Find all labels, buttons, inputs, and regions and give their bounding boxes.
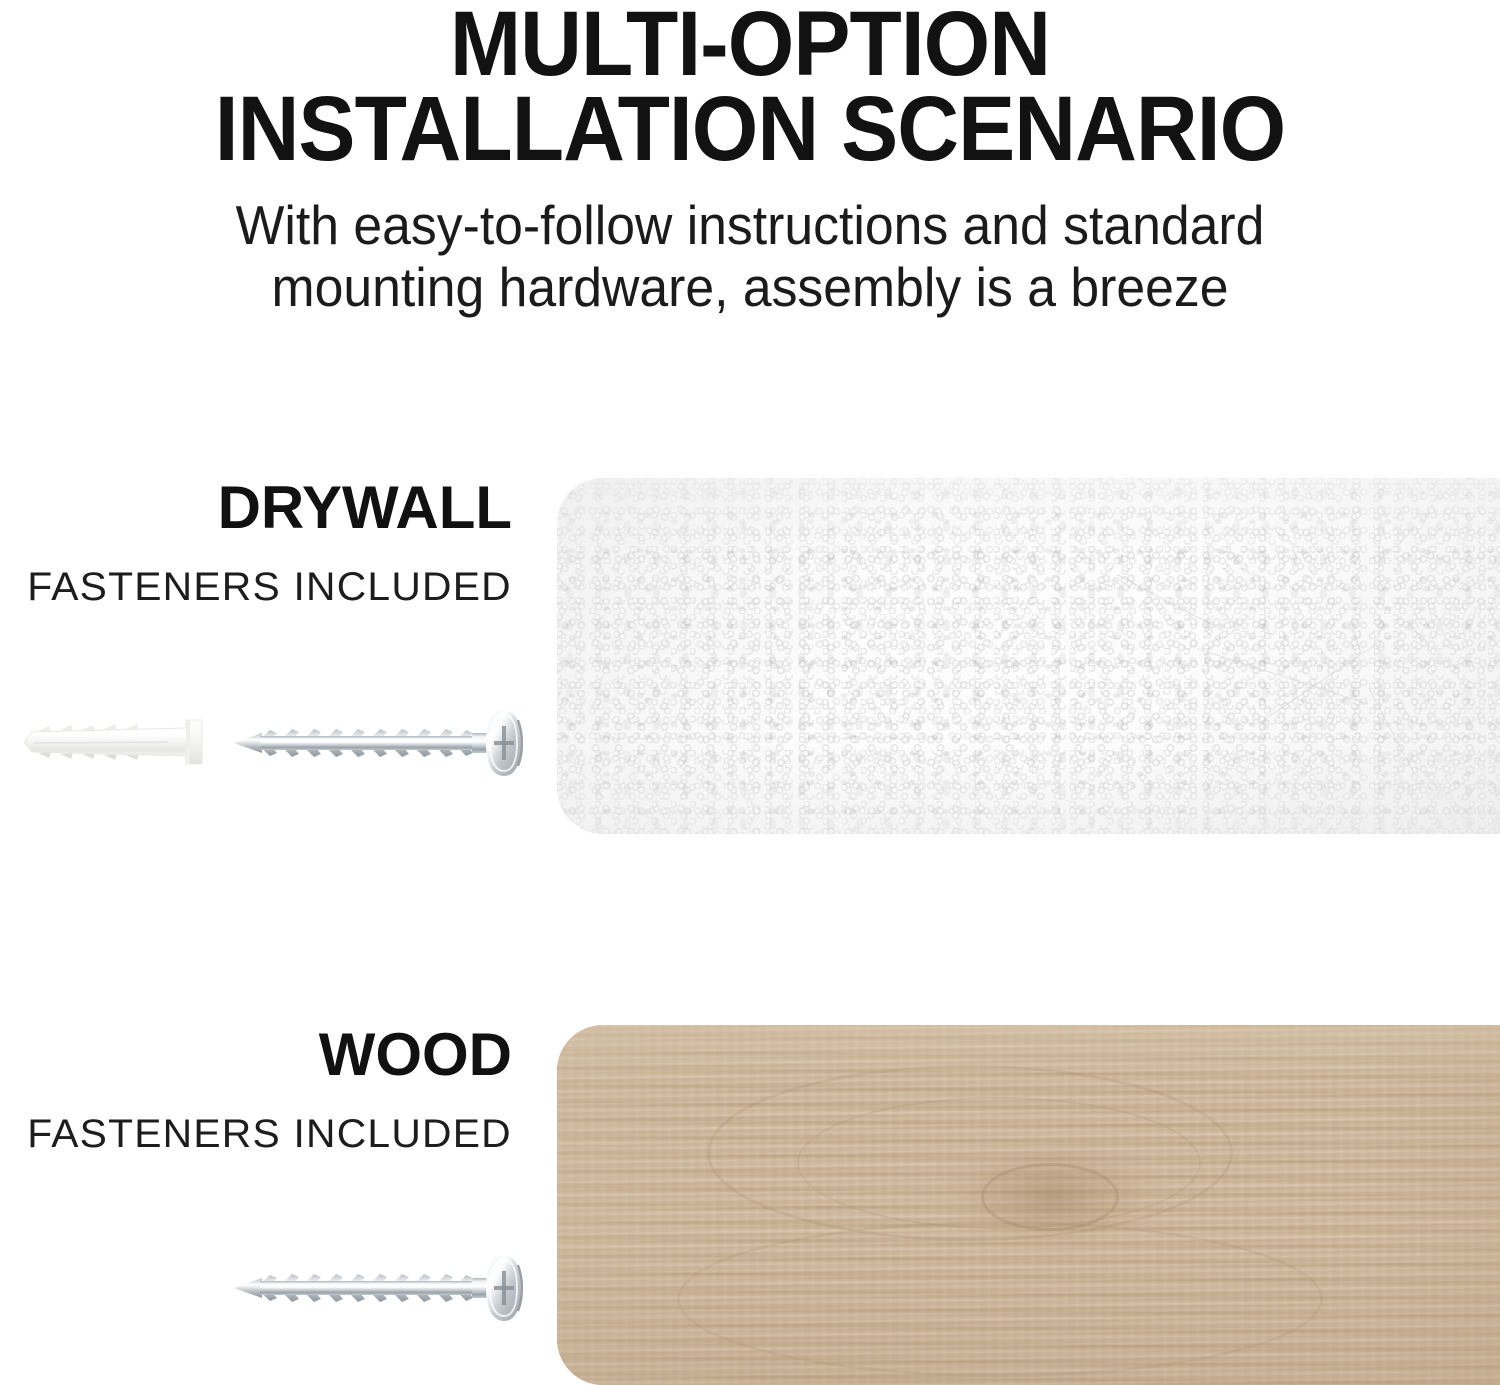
truss-head-screw-icon-drywall xyxy=(232,706,524,780)
wood-labels: WOOD FASTENERS INCLUDED xyxy=(0,1025,520,1154)
page-title: MULTI-OPTION INSTALLATION SCENARIO xyxy=(53,0,1448,171)
drywall-hardware-row xyxy=(0,694,525,804)
plastic-wall-anchor-icon xyxy=(18,712,218,772)
drywall-title: DRYWALL xyxy=(0,478,520,538)
header: MULTI-OPTION INSTALLATION SCENARIO With … xyxy=(0,0,1500,318)
wood-subtitle: FASTENERS INCLUDED xyxy=(0,1085,520,1154)
truss-head-screw-icon-wood xyxy=(232,1251,524,1325)
installation-scenario-infographic: MULTI-OPTION INSTALLATION SCENARIO With … xyxy=(0,0,1500,1385)
drywall-subtitle: FASTENERS INCLUDED xyxy=(0,538,520,607)
section-wood: WOOD FASTENERS INCLUDED xyxy=(0,1025,1500,1385)
wood-shading-layer xyxy=(557,1025,1500,1385)
page-subtitle: With easy-to-follow instructions and sta… xyxy=(45,171,1455,318)
wood-hardware-row xyxy=(0,1239,525,1349)
page-subtitle-line-2: mounting hardware, assembly is a breeze xyxy=(45,257,1455,319)
page-title-line-1: MULTI-OPTION xyxy=(53,2,1448,87)
wood-title: WOOD xyxy=(0,1025,520,1085)
wood-texture-panel xyxy=(557,1025,1500,1385)
drywall-shading-layer xyxy=(557,478,1500,834)
drywall-labels: DRYWALL FASTENERS INCLUDED xyxy=(0,478,520,607)
page-subtitle-line-1: With easy-to-follow instructions and sta… xyxy=(45,195,1455,257)
drywall-texture-panel xyxy=(557,478,1500,834)
page-title-line-2: INSTALLATION SCENARIO xyxy=(53,87,1448,172)
section-drywall: DRYWALL FASTENERS INCLUDED xyxy=(0,478,1500,834)
